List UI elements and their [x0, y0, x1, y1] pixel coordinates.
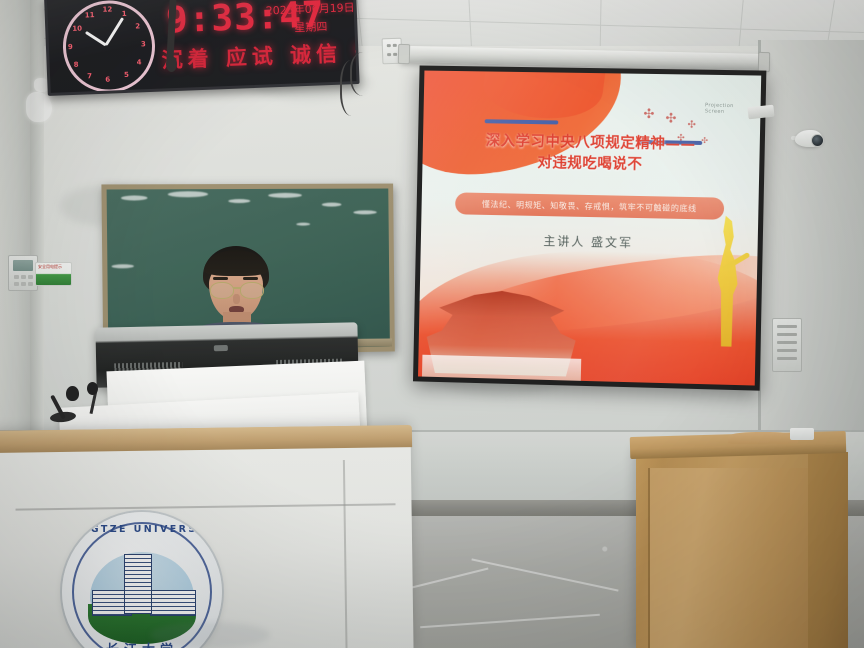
slide-presenter: 主讲人 盛文军	[421, 229, 758, 253]
slide-subtitle-banner: 懂法纪、明规矩、知敬畏、存戒惧，筑牢不可触碰的底线	[455, 192, 724, 219]
left-wall-pillar-edge	[30, 0, 44, 440]
console-indicator	[214, 345, 228, 351]
lectern-object	[728, 432, 798, 444]
microphone-head	[66, 386, 79, 401]
slide-gate-base	[422, 355, 581, 381]
classroom-photo-scene: 12 1 2 3 4 5 6 7 8 9 10 11 9:33:47 2025年…	[0, 0, 864, 648]
digital-clock-weekday: 星期四	[294, 18, 328, 35]
projector-screen-brand-label: Projection Screen	[705, 102, 753, 112]
safety-notice-text: 安全用电提示	[38, 264, 62, 270]
paint-peel-patch	[26, 92, 52, 122]
clock-number: 8	[74, 61, 79, 69]
presentation-slide: ✣ ✣ ✣ ✣ ✣ 深入学习中央八项规定精神—— 对违规吃喝说不 懂法纪、明规矩…	[418, 71, 761, 386]
led-clock-board: 12 1 2 3 4 5 6 7 8 9 10 11 9:33:47 2025年…	[44, 0, 360, 96]
digital-clock-time: 9:33:47	[165, 0, 325, 41]
podium-shadow	[150, 622, 270, 648]
wall-control-panel[interactable]	[772, 318, 802, 372]
safety-notice-sign: 安全用电提示	[35, 262, 72, 286]
slide-subtitle: 懂法纪、明规矩、知敬畏、存戒惧，筑牢不可触碰的底线	[482, 198, 697, 213]
clock-number: 1	[122, 10, 127, 18]
clock-hour-hand	[85, 31, 107, 47]
clock-number: 7	[87, 72, 92, 80]
led-slogan-text: 沉着 应试 诚信 守纪	[161, 35, 360, 74]
clock-minute-hand	[105, 17, 124, 46]
camera-lens	[811, 134, 824, 147]
clock-number: 10	[72, 25, 82, 33]
person-nose	[233, 294, 240, 304]
ac-control-panel[interactable]	[8, 255, 38, 291]
lectern-front-panel	[648, 468, 812, 648]
clock-number: 5	[124, 71, 129, 79]
clock-number: 4	[136, 58, 141, 66]
security-camera	[795, 128, 825, 150]
eyeglass-bridge	[233, 287, 241, 289]
roller-bracket-right	[758, 52, 770, 72]
ac-panel-display	[13, 260, 33, 271]
clock-number: 2	[135, 22, 140, 30]
logo-english-text: YANGTZE UNIVERSITY	[62, 524, 222, 535]
logo-tower	[124, 554, 152, 614]
logo-building-right	[150, 590, 196, 616]
clock-number: 12	[102, 5, 112, 13]
clock-number: 11	[85, 11, 95, 19]
wall-wire	[340, 60, 368, 116]
hanging-cable-tip	[166, 56, 177, 72]
clock-number: 9	[68, 43, 73, 51]
lectern-side-panel	[808, 452, 848, 648]
clock-number: 6	[105, 76, 110, 84]
roller-bracket-left	[398, 44, 410, 64]
eyeglass-lens-left	[210, 282, 234, 299]
analog-clock-face: 12 1 2 3 4 5 6 7 8 9 10 11	[61, 0, 156, 94]
microphone-head-2	[87, 382, 98, 395]
left-wall-pillar	[0, 0, 30, 440]
digital-clock-date: 2025年06月19日	[265, 0, 355, 18]
eyeglass-lens-right	[240, 282, 264, 299]
clock-number: 3	[141, 40, 146, 48]
slide-title: 深入学习中央八项规定精神—— 对违规吃喝说不	[422, 130, 760, 178]
lectern-small-box	[790, 428, 814, 440]
